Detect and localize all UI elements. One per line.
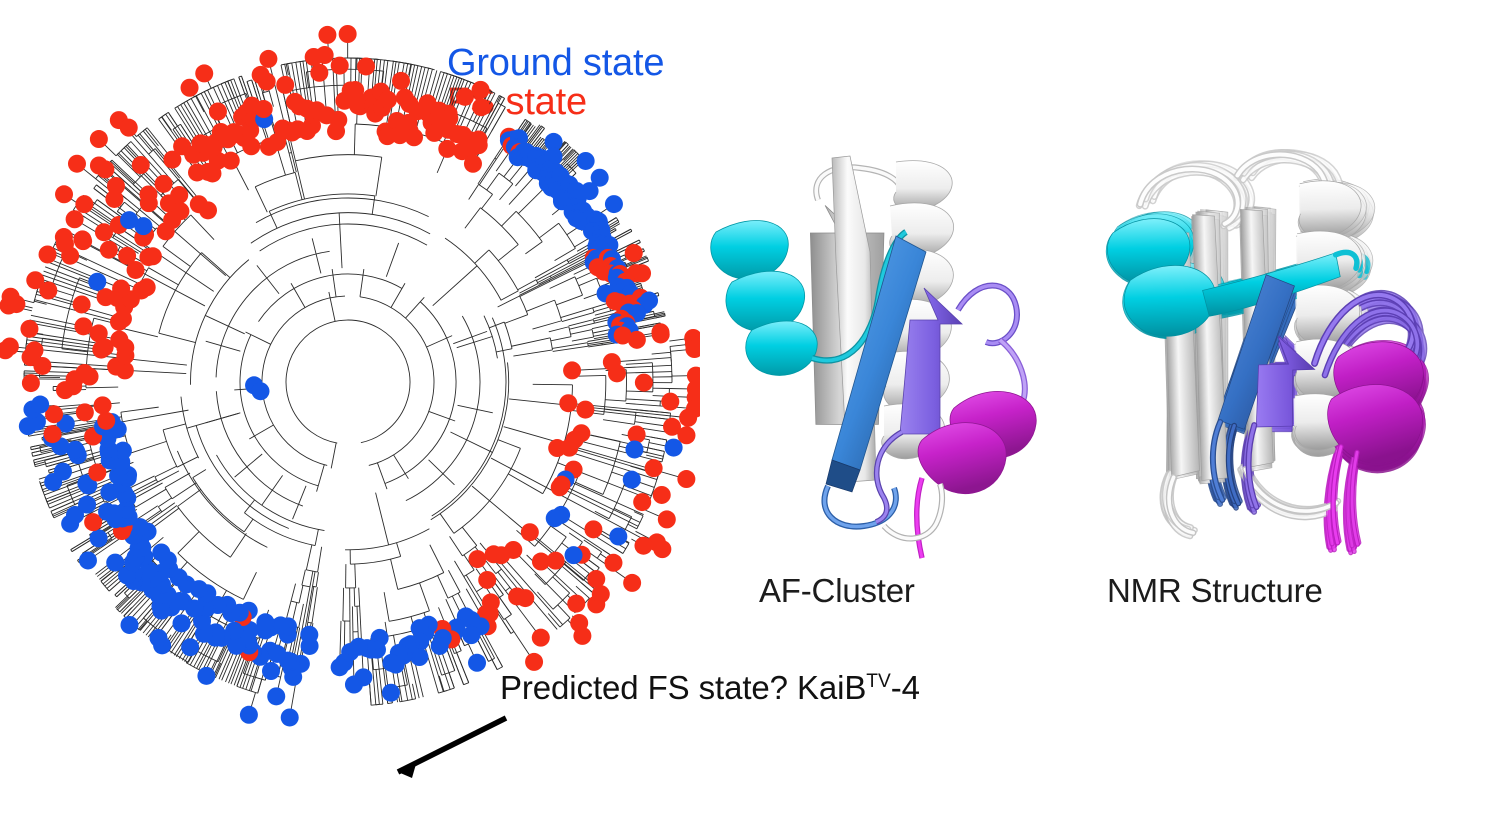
tree-tip-marker	[262, 662, 280, 680]
tree-tip-marker	[267, 687, 285, 705]
tree-tip-marker	[94, 396, 112, 414]
tree-branch-radial	[178, 532, 199, 553]
tree-branch-radial	[448, 570, 460, 592]
tree-branch-radial	[513, 350, 552, 356]
tree-branch-radial	[376, 493, 389, 545]
tree-tip-marker	[90, 529, 108, 547]
tree-branch-radial	[518, 187, 545, 214]
tree-branch-arc	[260, 224, 427, 251]
tree-branch-radial	[384, 592, 389, 621]
tree-branch-radial	[626, 403, 660, 406]
tree-branch-arc	[165, 487, 172, 498]
tree-tip-marker	[382, 654, 400, 672]
tree-branch-arc	[312, 586, 316, 587]
tree-branch-radial	[359, 588, 360, 606]
tree-branch-arc	[34, 300, 35, 303]
tree-tip-marker	[357, 57, 375, 75]
tree-branch-radial	[553, 346, 588, 351]
tree-tip-marker	[74, 232, 92, 250]
tree-branch-radial	[186, 662, 187, 663]
tree-branch-radial	[394, 455, 409, 479]
tree-branch-arc	[559, 223, 576, 248]
tree-tip-marker	[132, 156, 150, 174]
tree-tip-marker	[39, 245, 57, 263]
tree-tip-marker	[112, 280, 130, 298]
tree-branch-radial	[430, 545, 444, 573]
tree-tip-marker	[255, 100, 273, 118]
tree-tip-marker	[22, 374, 40, 392]
tree-tip-marker	[300, 626, 318, 644]
tree-tip-marker	[464, 155, 482, 173]
tree-branch-radial	[244, 519, 253, 532]
tree-branch-radial	[450, 536, 463, 556]
tree-tip-marker	[181, 79, 199, 97]
tree-branch-radial	[458, 405, 493, 412]
tree-tip-marker	[1, 337, 19, 355]
tree-branch-radial	[406, 297, 425, 318]
tree-branch-radial	[489, 322, 504, 328]
tree-tip-marker	[548, 439, 566, 457]
tree-tip-marker	[25, 341, 43, 359]
tree-branch-arc	[163, 430, 177, 467]
tree-tip-marker	[259, 50, 277, 68]
tree-branch-radial	[255, 187, 267, 212]
tree-tip-marker	[90, 157, 108, 175]
tree-branch-arc	[124, 593, 129, 598]
tree-branch-radial	[372, 196, 375, 215]
tree-tip-marker	[20, 320, 38, 338]
tree-branch-radial	[537, 592, 553, 609]
tree-branch-radial	[163, 424, 186, 430]
tree-branch-radial	[446, 599, 455, 620]
tree-branch-radial	[509, 176, 535, 204]
tree-branch-radial	[539, 223, 558, 238]
tree-tip-marker	[679, 409, 697, 427]
tree-branch-radial	[498, 296, 520, 307]
tree-tip-marker	[170, 186, 188, 204]
tree-branch-radial	[206, 341, 241, 351]
tree-branch-arc	[504, 322, 512, 349]
tree-branch-arc	[216, 251, 330, 377]
tree-branch-radial	[569, 533, 582, 542]
tree-branch-arc	[385, 302, 456, 484]
tree-branch-radial	[576, 482, 603, 494]
tree-branch-radial	[626, 399, 660, 401]
tree-tip-marker	[76, 364, 94, 382]
tree-branch-radial	[469, 184, 479, 199]
tree-branch-arc	[504, 614, 512, 619]
tree-branch-arc	[647, 257, 649, 261]
tree-tip-marker	[79, 551, 97, 569]
tree-branch-radial	[526, 300, 554, 311]
tree-branch-radial	[124, 329, 158, 337]
tree-branch-radial	[551, 337, 571, 341]
figure-root: Ground state FS state Predicted FS state…	[0, 0, 1512, 829]
tree-tip-marker	[551, 478, 569, 496]
tree-tip-marker	[625, 440, 643, 458]
tree-tip-marker	[405, 128, 423, 146]
tree-branch-radial	[354, 588, 355, 607]
tree-branch-arc	[350, 556, 400, 564]
tree-branch-radial	[440, 514, 454, 534]
tree-branch-arc	[511, 632, 514, 634]
tree-branch-radial	[595, 511, 609, 518]
tree-tip-marker	[565, 546, 583, 564]
tree-branch-radial	[502, 211, 517, 226]
tree-tip-marker	[635, 374, 653, 392]
tree-branch-radial	[343, 588, 344, 621]
tree-branch-arc	[464, 644, 468, 646]
tree-branch-radial	[535, 574, 545, 585]
tree-tip-marker	[281, 708, 299, 726]
tree-tip-marker	[149, 629, 167, 647]
tree-branch-arc	[281, 64, 285, 65]
tree-branch-arc	[155, 477, 158, 482]
tree-branch-radial	[438, 576, 448, 599]
tree-tip-marker	[608, 364, 626, 382]
tree-branch-radial	[291, 283, 305, 307]
tree-tip-marker	[258, 73, 276, 91]
tree-tip-marker	[197, 667, 215, 685]
tree-branch-arc	[306, 570, 317, 572]
tree-branch-radial	[329, 292, 335, 321]
tree-branch-arc	[670, 346, 671, 361]
tree-tip-marker	[195, 64, 213, 82]
tree-branch-radial	[595, 311, 611, 315]
tree-branch-radial	[312, 572, 315, 587]
tree-tip-marker	[623, 574, 641, 592]
tree-branch-arc	[520, 296, 528, 315]
tree-branch-radial	[652, 352, 671, 354]
tree-tip-marker	[573, 627, 591, 645]
tree-branch-radial	[553, 577, 570, 593]
tree-branch-radial	[487, 173, 499, 190]
tree-branch-arc	[291, 601, 299, 603]
tree-tip-marker	[532, 553, 550, 571]
tree-branch-radial	[357, 606, 358, 631]
tree-branch-radial	[317, 465, 325, 492]
tree-tip-marker	[44, 425, 62, 443]
tree-branch-radial	[315, 529, 318, 545]
tree-branch-radial	[291, 584, 296, 602]
tree-branch-arc	[255, 172, 295, 186]
tree-branch-radial	[289, 153, 294, 173]
annotation-text-suffix: -4	[891, 669, 920, 706]
tree-tip-marker	[139, 185, 157, 203]
nmr-structure-ensemble	[1095, 140, 1495, 570]
tree-branch-arc	[454, 651, 461, 654]
tree-tip-marker	[633, 264, 651, 282]
tree-branch-arc	[94, 185, 97, 188]
tree-tip-marker	[329, 111, 347, 129]
tree-branch-radial	[312, 238, 321, 273]
tree-branch-radial	[569, 320, 594, 326]
tree-tip-marker	[316, 46, 334, 64]
tree-branch-arc	[480, 208, 518, 245]
tree-tip-marker	[478, 571, 496, 589]
tree-tip-marker	[173, 614, 191, 632]
tree-tip-marker	[331, 57, 349, 75]
tree-tip-marker	[2, 288, 20, 306]
tree-branch-radial	[556, 295, 582, 305]
tree-branch-radial	[594, 307, 610, 311]
tree-tip-marker	[100, 241, 118, 259]
tree-branch-radial	[187, 413, 239, 428]
tree-tip-marker	[470, 136, 488, 154]
tree-branch-radial	[549, 327, 569, 332]
tree-branch-arc	[216, 391, 303, 506]
tree-tip-marker	[68, 155, 86, 173]
tree-tip-marker	[138, 278, 156, 296]
tree-tip-marker	[222, 152, 240, 170]
tree-branch-radial	[433, 266, 477, 306]
tree-tip-marker	[54, 463, 72, 481]
tree-tip-marker	[472, 81, 490, 99]
tree-branch-radial	[555, 248, 576, 260]
tree-branch-radial	[475, 250, 489, 263]
tree-branch-radial	[505, 315, 528, 324]
tree-tip-marker	[665, 439, 683, 457]
tree-branch-arc	[550, 338, 552, 350]
tree-tip-marker	[66, 210, 84, 228]
tree-branch-arc	[647, 440, 650, 453]
tree-branch-radial	[377, 463, 387, 489]
tree-branch-arc	[569, 327, 571, 337]
tree-branch-arc	[392, 61, 411, 64]
tree-branch-arc	[479, 184, 493, 194]
tree-tip-marker	[584, 520, 602, 538]
tree-branch-radial	[579, 278, 597, 285]
tree-branch-arc	[256, 198, 429, 223]
tree-branch-radial	[512, 338, 551, 346]
tree-branch-arc	[286, 320, 410, 443]
annotation-superscript: TV	[866, 671, 890, 692]
tree-branch-radial	[130, 441, 166, 453]
tree-branch-radial	[532, 321, 561, 329]
tree-branch-radial	[509, 399, 688, 418]
tree-tip-marker	[567, 595, 585, 613]
tree-branch-radial	[498, 572, 510, 587]
tree-branch-radial	[376, 157, 382, 196]
tree-tip-marker	[521, 523, 539, 541]
tree-tip-marker	[559, 394, 577, 412]
tree-tip-marker	[605, 195, 623, 213]
tree-tip-marker	[645, 459, 663, 477]
tree-tip-marker	[155, 175, 173, 193]
tree-branch-radial	[205, 315, 244, 333]
tree-branch-arc	[247, 80, 252, 82]
tree-branch-arc	[464, 570, 474, 577]
tree-tip-marker	[623, 471, 641, 489]
tree-branch-radial	[124, 202, 137, 212]
tree-branch-radial	[354, 124, 355, 155]
tree-tip-marker	[152, 544, 170, 562]
tree-branch-arc	[193, 478, 244, 532]
tree-branch-radial	[318, 547, 322, 572]
tree-branch-radial	[626, 363, 652, 365]
tree-branch-radial	[501, 291, 518, 300]
tree-tip-marker	[107, 177, 125, 195]
af-helix-cyan	[711, 221, 817, 376]
tree-branch-arc	[597, 552, 601, 558]
annotation-label: Predicted FS state? KaiBTV-4	[500, 669, 920, 707]
tree-branch-radial	[138, 135, 152, 151]
tree-tip-marker	[532, 629, 550, 647]
tree-branch-arc	[575, 277, 583, 295]
tree-branch-radial	[581, 433, 664, 451]
tree-branch-radial	[360, 269, 364, 297]
tree-tip-marker	[379, 91, 397, 109]
tree-tip-marker	[144, 247, 162, 265]
tree-branch-radial	[429, 460, 455, 485]
tree-branch-arc	[448, 592, 460, 598]
tree-branch-radial	[603, 420, 634, 425]
tree-branch-radial	[306, 545, 312, 570]
tree-branch-radial	[230, 533, 246, 557]
tree-tip-marker	[199, 201, 217, 219]
tree-tip-marker	[604, 554, 622, 572]
tree-branch-radial	[172, 483, 196, 499]
tree-tip-marker	[431, 637, 449, 655]
tree-branch-arc	[516, 211, 542, 241]
tree-tip-marker	[508, 587, 526, 605]
tree-tip-marker	[468, 654, 486, 672]
tree-tip-marker	[55, 185, 73, 203]
tree-tip-marker	[242, 137, 260, 155]
tree-tip-marker	[276, 76, 294, 94]
tree-branch-radial	[391, 559, 398, 589]
tree-tip-marker	[66, 441, 84, 459]
tree-branch-radial	[450, 432, 492, 452]
tree-branch-radial	[551, 526, 567, 537]
caption-af-cluster: AF-Cluster	[759, 572, 915, 610]
tree-branch-radial	[420, 583, 430, 611]
tree-branch-radial	[391, 283, 405, 307]
tree-tip-marker	[88, 273, 106, 291]
tree-tip-marker	[331, 658, 349, 676]
tree-branch-arc	[451, 75, 459, 78]
tree-tip-marker	[55, 228, 73, 246]
tree-tip-marker	[625, 244, 643, 262]
tree-tip-marker	[118, 247, 136, 265]
tree-branch-radial	[571, 330, 593, 335]
tree-tip-marker	[181, 638, 199, 656]
tree-branch-radial	[498, 245, 518, 261]
tree-branch-arc	[308, 622, 312, 623]
tree-branch-arc	[221, 82, 225, 84]
tree-tip-marker	[677, 470, 695, 488]
tree-tip-marker	[240, 706, 258, 724]
tree-tip-marker	[576, 401, 594, 419]
tree-tip-marker	[256, 613, 274, 631]
tree-branch-radial	[498, 440, 520, 449]
tree-branch-radial	[235, 454, 263, 477]
tree-branch-radial	[162, 503, 175, 512]
tree-tip-marker	[73, 295, 91, 313]
tree-branch-radial	[152, 508, 179, 528]
tree-tip-marker	[106, 554, 124, 572]
tree-tip-marker	[33, 357, 51, 375]
tree-branch-radial	[165, 473, 190, 487]
tree-tip-marker	[609, 527, 627, 545]
tree-tip-marker	[581, 182, 599, 200]
tree-branch-arc	[32, 453, 33, 457]
tree-branch-radial	[355, 564, 356, 588]
tree-branch-arc	[588, 343, 589, 347]
tree-branch-radial	[139, 621, 146, 630]
tree-tip-marker	[251, 382, 269, 400]
tree-tip-marker	[633, 493, 651, 511]
tree-branch-radial	[249, 425, 273, 439]
nmr-ensemble-models	[1104, 150, 1433, 555]
tree-tip-marker	[110, 331, 128, 349]
tree-branch-radial	[520, 282, 550, 297]
tree-branch-radial	[340, 621, 341, 660]
tree-tip-marker	[78, 496, 96, 514]
tree-branch-radial	[508, 474, 542, 494]
tree-branch-radial	[193, 470, 206, 478]
tree-tip-marker	[120, 119, 138, 137]
tree-branch-radial	[525, 242, 542, 254]
tree-branch-radial	[649, 443, 666, 446]
tree-branch-arc	[228, 80, 231, 81]
tree-branch-radial	[243, 572, 256, 599]
tree-branch-radial	[457, 337, 493, 348]
tree-tip-marker	[98, 503, 116, 521]
tree-branch-radial	[397, 543, 401, 557]
tree-branch-radial	[339, 213, 342, 268]
tree-tip-marker	[74, 317, 92, 335]
tree-tip-marker	[592, 585, 610, 603]
tree-tip-marker	[121, 616, 139, 634]
tree-branch-radial	[155, 466, 177, 477]
tree-tip-marker	[97, 412, 115, 430]
tree-branch-radial	[257, 265, 279, 293]
tree-branch-arc	[360, 297, 434, 466]
tree-tip-marker	[310, 64, 328, 82]
tree-branch-radial	[605, 400, 626, 401]
tree-branch-arc	[553, 593, 570, 609]
tree-tip-marker	[75, 195, 93, 213]
tree-branch-radial	[465, 208, 481, 228]
tree-branch-arc	[159, 117, 162, 119]
tree-branch-radial	[386, 243, 398, 277]
tree-branch-arc	[34, 463, 35, 467]
tree-branch-radial	[316, 572, 318, 587]
tree-branch-radial	[302, 570, 306, 585]
tree-branch-radial	[244, 500, 254, 513]
tree-tip-marker	[392, 72, 410, 90]
tree-tip-marker	[209, 103, 227, 121]
tree-branches	[5, 34, 696, 717]
tree-branch-radial	[626, 391, 652, 392]
tree-branch-radial	[163, 246, 190, 266]
tree-branch-radial	[482, 194, 493, 208]
tree-branch-radial	[462, 527, 476, 545]
tree-branch-arc	[444, 73, 447, 74]
tree-tip-marker	[31, 396, 49, 414]
tree-branch-arc	[288, 63, 292, 64]
tree-branch-arc	[626, 370, 627, 401]
tree-branch-radial	[262, 475, 283, 505]
tree-tip-marker	[658, 510, 676, 528]
tree-branch-radial	[202, 253, 230, 278]
tree-branch-radial	[48, 259, 121, 289]
tree-tip-marker	[90, 324, 108, 342]
tree-tip-marker	[90, 130, 108, 148]
tree-branch-radial	[117, 597, 129, 609]
tree-tip-marker	[472, 98, 490, 116]
